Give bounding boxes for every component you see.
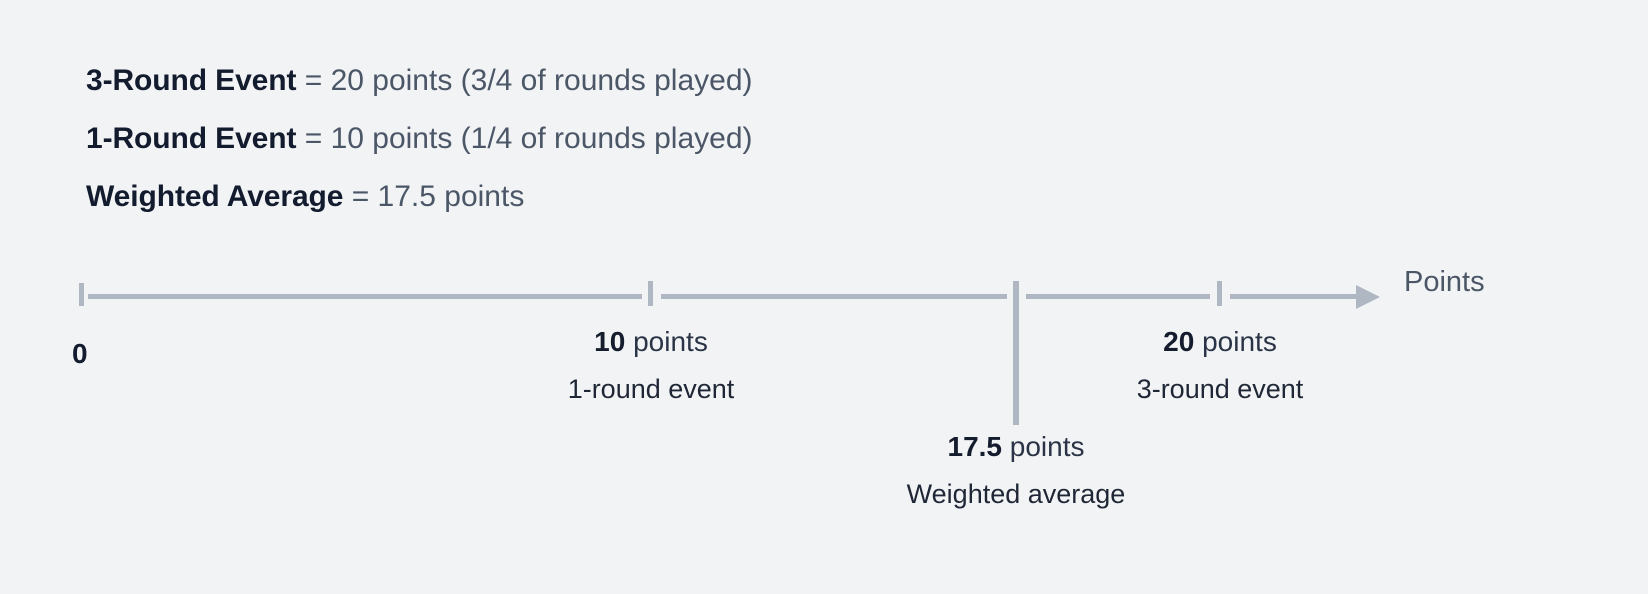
axis-segment-10-to-17-5	[661, 294, 1007, 299]
tick-value-number: 17.5	[948, 431, 1003, 462]
tick-mark-10	[648, 281, 653, 306]
tick-value-unit: points	[1002, 431, 1085, 462]
tick-description: Weighted average	[907, 481, 1126, 508]
number-line-axis-svg	[0, 0, 1648, 594]
tick-label-weighted-average: 17.5 points Weighted average	[907, 433, 1126, 508]
axis-segment-20-to-arrow	[1230, 294, 1360, 299]
number-line: Points 0 10 points 1-round event 20 poin…	[0, 0, 1648, 594]
tick-value-unit: points	[625, 326, 708, 357]
tick-description: 3-round event	[1137, 376, 1304, 403]
axis-arrowhead-icon	[1356, 285, 1380, 309]
tick-value-number: 20	[1163, 326, 1194, 357]
tick-label-20-points: 20 points 3-round event	[1137, 328, 1304, 403]
axis-name-label: Points	[1404, 268, 1485, 297]
axis-segment-0-to-10	[88, 294, 642, 299]
origin-label: 0	[72, 340, 88, 368]
tick-value-line: 10 points	[568, 328, 735, 356]
tick-value-line: 17.5 points	[907, 433, 1126, 461]
tick-mark-0	[79, 283, 84, 306]
weighted-average-figure: 3-Round Event = 20 points (3/4 of rounds…	[0, 0, 1648, 594]
axis-line-group	[88, 294, 1360, 299]
tick-value-line: 20 points	[1137, 328, 1304, 356]
tick-value-unit: points	[1194, 326, 1277, 357]
tick-value-number: 10	[594, 326, 625, 357]
tick-description: 1-round event	[568, 376, 735, 403]
tick-label-10-points: 10 points 1-round event	[568, 328, 735, 403]
axis-segment-17-5-to-20	[1026, 294, 1210, 299]
tick-mark-20	[1217, 281, 1222, 306]
marker-line-weighted-average	[1013, 281, 1019, 425]
